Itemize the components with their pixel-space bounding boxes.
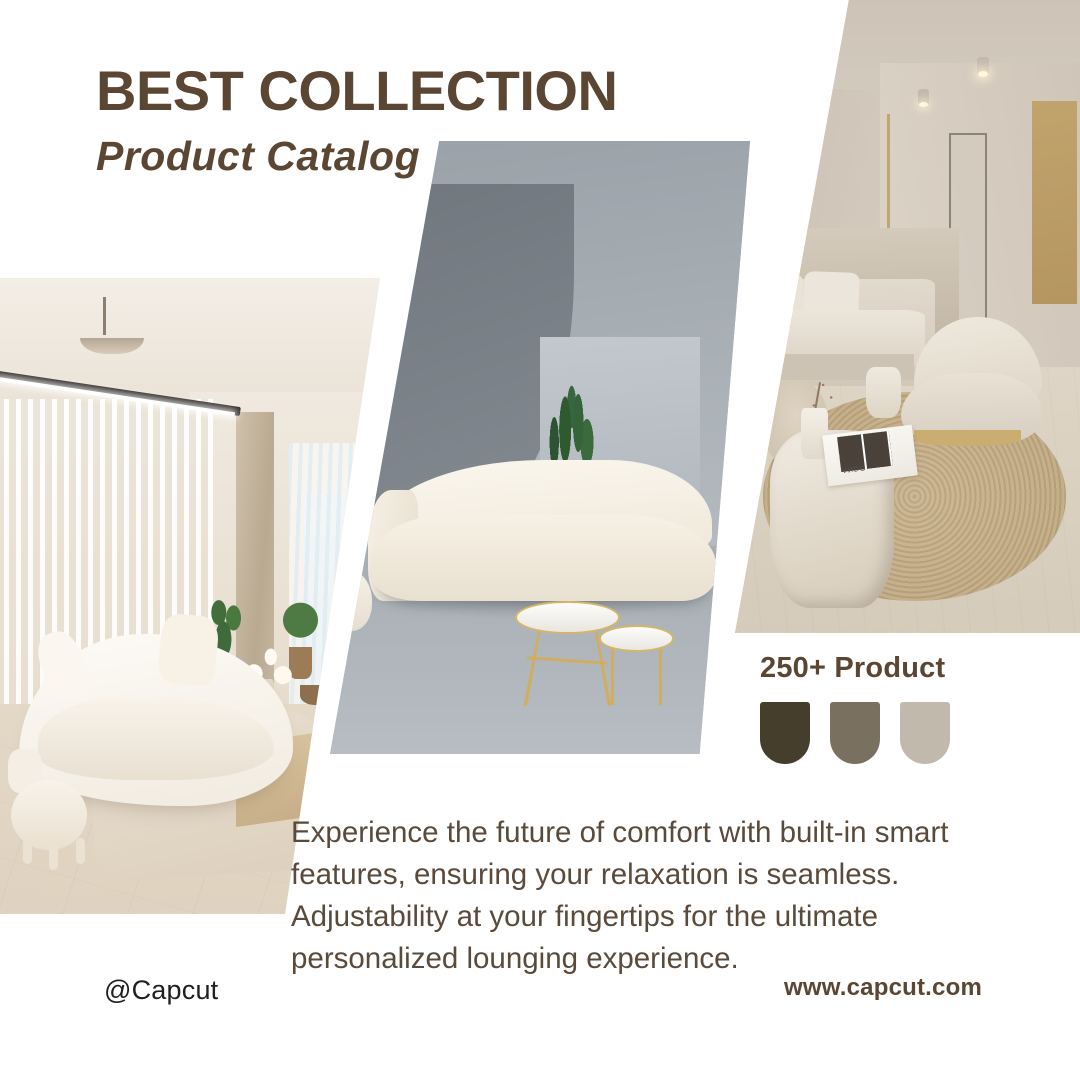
ottoman-leg bbox=[76, 838, 85, 864]
color-swatch-warm-taupe[interactable] bbox=[830, 702, 880, 764]
coffee-table-large-legs bbox=[523, 633, 611, 706]
page-title: BEST COLLECTION bbox=[96, 62, 617, 121]
ceiling-spotlight-icon bbox=[977, 57, 989, 75]
bedroom-scene: ANDO bbox=[735, 0, 1080, 633]
product-count-block: 250+ Product bbox=[760, 652, 950, 764]
page-subtitle: Product Catalog bbox=[96, 133, 617, 180]
grey-studio-scene bbox=[330, 141, 750, 754]
social-handle[interactable]: @Capcut bbox=[104, 975, 218, 1006]
small-side-pouf bbox=[866, 367, 901, 418]
ottoman-leg bbox=[49, 844, 58, 870]
website-url[interactable]: www.capcut.com bbox=[784, 974, 982, 1002]
coffee-table-large-top bbox=[515, 601, 620, 635]
color-swatch-group bbox=[760, 702, 950, 764]
pendant-rod bbox=[103, 297, 106, 335]
wooden-bowl bbox=[300, 685, 330, 705]
coffee-table-small-legs bbox=[611, 644, 661, 705]
product-count-label: 250+ Product bbox=[760, 652, 950, 685]
lounge-chair-brass-base bbox=[914, 430, 1021, 446]
color-swatch-dark-olive-brown[interactable] bbox=[760, 702, 810, 764]
round-pouf bbox=[330, 570, 372, 631]
ceiling-spotlight-icon bbox=[918, 89, 929, 105]
poster-canvas: BEST COLLECTION Product Catalog bbox=[0, 0, 1080, 1080]
ottoman-leg bbox=[23, 838, 32, 864]
throw-pillow-right bbox=[157, 613, 220, 688]
curved-sofa-seat bbox=[372, 515, 716, 601]
photo-panel-grey-studio[interactable] bbox=[330, 141, 750, 754]
color-swatch-light-greige[interactable] bbox=[900, 702, 950, 764]
photo-panel-bedroom[interactable]: ANDO bbox=[735, 0, 1080, 633]
header: BEST COLLECTION Product Catalog bbox=[96, 62, 617, 180]
description-paragraph: Experience the future of comfort with bu… bbox=[291, 812, 963, 980]
wall-art-panel bbox=[1032, 101, 1077, 304]
